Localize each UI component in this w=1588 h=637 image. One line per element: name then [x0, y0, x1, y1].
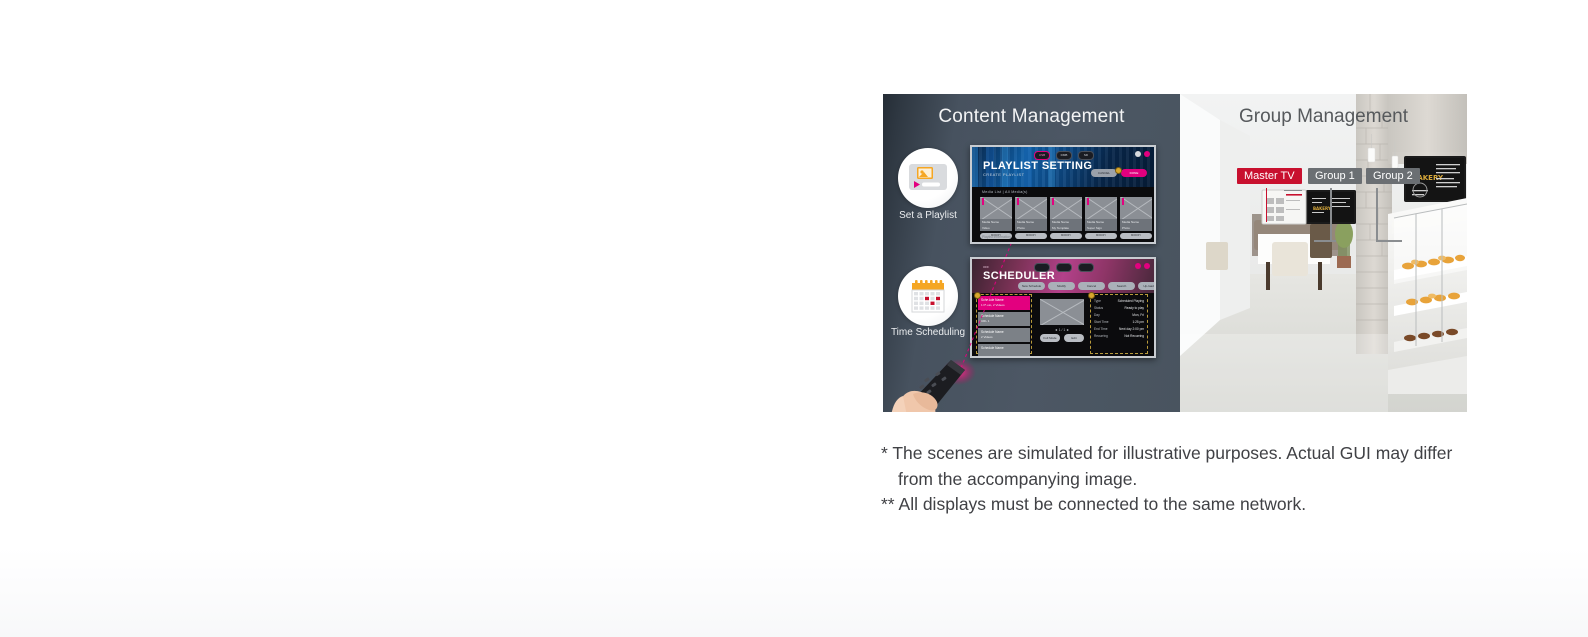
media-modify-button[interactable]: MODIFY: [1085, 233, 1117, 239]
modify-button[interactable]: Modify: [1048, 282, 1075, 290]
schedule-list-item[interactable]: Schedule Name URL 1: [978, 312, 1030, 326]
detail-value: Mon, Fri: [1132, 313, 1144, 317]
playlist-image-icon: [909, 164, 947, 190]
schedule-preview-buttons[interactable]: Full Mode Edit: [1040, 334, 1084, 342]
time-scheduling-label: Time Scheduling: [883, 327, 983, 338]
detail-row: Recurring Not Recurring: [1094, 334, 1144, 338]
cancel-button[interactable]: Cancel: [1078, 282, 1105, 290]
settings-icon[interactable]: [1135, 263, 1141, 269]
detail-value: Next day 2:00 pm: [1119, 327, 1144, 331]
media-source-sd-button[interactable]: SD: [1078, 151, 1094, 160]
detail-value: Ready to play: [1125, 306, 1145, 310]
media-type: Photo: [1120, 225, 1152, 231]
scheduler-top-button-2[interactable]: [1056, 263, 1072, 272]
scheduler-tag: OFF: [983, 265, 989, 269]
footnote-line-1: * The scenes are simulated for illustrat…: [881, 441, 1481, 492]
settings-icon[interactable]: [1135, 151, 1141, 157]
group2-leader-line: [1376, 188, 1378, 240]
schedule-preview: [1040, 299, 1084, 325]
media-modify-button[interactable]: MODIFY: [1050, 233, 1082, 239]
bakery-cafe-scene: BAKERY BAKERY: [1180, 94, 1467, 412]
detail-row: Status Ready to play: [1094, 306, 1144, 310]
media-card[interactable]: Media Name Photo MODIFY: [1015, 197, 1047, 239]
master-tv-leader-line: [1266, 188, 1267, 222]
schedule-list-knob: [974, 292, 981, 299]
group1-leader-line: [1330, 188, 1332, 240]
detail-row: Type Scheduled Playing: [1094, 299, 1144, 303]
group-2-tag[interactable]: Group 2: [1366, 168, 1420, 184]
calendar-icon: [911, 279, 945, 313]
close-icon[interactable]: [1144, 151, 1150, 157]
media-modify-button[interactable]: MODIFY: [1015, 233, 1047, 239]
media-thumbnail: [1085, 197, 1117, 219]
media-source-usb-button[interactable]: USB: [1034, 151, 1050, 160]
schedule-detail-panel: Type Scheduled Playing Status Ready to p…: [1090, 294, 1148, 354]
media-card-list[interactable]: Media Name Video MODIFY Media Name Photo…: [980, 197, 1152, 239]
group2-leader-tick: [1376, 240, 1402, 242]
media-type: Super Sign: [1085, 225, 1117, 231]
schedule-name: Schedule Name: [981, 330, 1027, 334]
scheduler-window[interactable]: OFF SCHEDULER New Schedule Modify Cancel…: [970, 257, 1156, 358]
schedule-detail-knob: [1088, 292, 1095, 299]
scheduler-toolbar[interactable]: New Schedule Modify Cancel Search Up-loa…: [1018, 282, 1156, 290]
detail-row: Day Mon, Fri: [1094, 313, 1144, 317]
schedule-list-item[interactable]: Schedule Name: [978, 344, 1030, 358]
master-tv-tag[interactable]: Master TV: [1237, 168, 1302, 184]
done-button[interactable]: DONE: [1121, 169, 1147, 177]
schedule-pager[interactable]: ◄ 1 / 1 ►: [1040, 328, 1084, 332]
playlist-footer-info: Playlist information: [982, 235, 1010, 239]
time-scheduling-icon-circle: [898, 266, 958, 326]
media-modify-button[interactable]: MODIFY: [1120, 233, 1152, 239]
media-thumbnail: [1015, 197, 1047, 219]
schedule-detail: 1 Photo, 2 Videos: [981, 303, 1027, 307]
media-card[interactable]: Media Name Super Sign MODIFY: [1085, 197, 1117, 239]
footnote-line-2: ** All displays must be connected to the…: [881, 492, 1481, 518]
group-1-tag[interactable]: Group 1: [1308, 168, 1362, 184]
media-thumbnail: [1050, 197, 1082, 219]
full-mode-button[interactable]: Full Mode: [1040, 334, 1060, 342]
scheduler-body: Schedule Name 1 Photo, 2 Videos Schedule…: [972, 293, 1154, 356]
master-tv-leader-tick: [1284, 190, 1302, 191]
new-schedule-button[interactable]: New Schedule: [1018, 282, 1045, 290]
scheduler-top-button-3[interactable]: [1078, 263, 1094, 272]
schedule-name: Schedule Name: [981, 298, 1027, 302]
detail-row: End Time Next day 2:00 pm: [1094, 327, 1144, 331]
media-source-dmb-button[interactable]: DMB: [1056, 151, 1072, 160]
bottom-gradient: [0, 547, 1588, 637]
detail-value: Scheduled Playing: [1118, 299, 1144, 303]
playlist-window-subtitle: CREATE PLAYLIST: [983, 172, 1024, 177]
svg-text:BAKERY: BAKERY: [1313, 206, 1331, 211]
set-a-playlist-icon-circle: [898, 148, 958, 208]
media-card[interactable]: Media Name My Template MODIFY: [1050, 197, 1082, 239]
detail-key: Status: [1094, 306, 1103, 310]
search-button[interactable]: Search: [1108, 282, 1135, 290]
schedule-detail: 2 Videos: [981, 335, 1027, 339]
schedule-detail: URL 1: [981, 319, 1027, 323]
media-list-tabs[interactable]: Media List | All Media(s): [982, 190, 1028, 194]
media-thumbnail: [980, 197, 1012, 219]
detail-key: End Time: [1094, 327, 1107, 331]
detail-value: 1:25 pm: [1132, 320, 1144, 324]
detail-key: Recurring: [1094, 334, 1108, 338]
detail-key: Type: [1094, 299, 1101, 303]
schedule-name: Schedule Name: [981, 314, 1027, 318]
scheduler-window-controls[interactable]: [1135, 263, 1150, 269]
promo-image: Content Management Set a Playlist: [883, 94, 1467, 412]
content-management-panel: Content Management Set a Playlist: [883, 94, 1180, 412]
playlist-setting-window[interactable]: USB DMB SD CREATE PLAYLIST PLAYLIST SETT…: [970, 145, 1156, 244]
upload-info-button[interactable]: Up-load Info: [1138, 282, 1156, 290]
edit-button[interactable]: Edit: [1064, 334, 1084, 342]
close-icon[interactable]: [1144, 263, 1150, 269]
group-management-title: Group Management: [1180, 106, 1467, 128]
media-type: Photo: [1015, 225, 1047, 231]
cancel-button[interactable]: CANCEL: [1091, 169, 1117, 177]
schedule-list-item[interactable]: Schedule Name 1 Photo, 2 Videos: [978, 296, 1030, 310]
playlist-window-title: PLAYLIST SETTING: [983, 160, 1092, 172]
media-type: Video: [980, 225, 1012, 231]
scheduler-top-button-1[interactable]: [1034, 263, 1050, 272]
playlist-window-controls[interactable]: [1135, 151, 1150, 157]
detail-key: Start Time: [1094, 320, 1109, 324]
set-a-playlist-label: Set a Playlist: [883, 210, 983, 221]
media-type: My Template: [1050, 225, 1082, 231]
schedule-name: Schedule Name: [981, 346, 1027, 350]
content-management-title: Content Management: [883, 106, 1180, 128]
detail-value: Not Recurring: [1124, 334, 1144, 338]
group-management-panel: BAKERY BAKERY: [1180, 94, 1467, 412]
media-thumbnail: [1120, 197, 1152, 219]
detail-row: Start Time 1:25 pm: [1094, 320, 1144, 324]
hand-holding-remote: [891, 354, 977, 412]
pointer-focus-knob: [1115, 167, 1122, 174]
media-card[interactable]: Media Name Photo MODIFY: [1120, 197, 1152, 239]
footnotes: * The scenes are simulated for illustrat…: [881, 441, 1481, 518]
schedule-list-item[interactable]: Schedule Name 2 Videos: [978, 328, 1030, 342]
schedule-list[interactable]: Schedule Name 1 Photo, 2 Videos Schedule…: [978, 296, 1030, 358]
detail-key: Day: [1094, 313, 1100, 317]
media-card[interactable]: Media Name Video MODIFY: [980, 197, 1012, 239]
group1-leader-tick: [1314, 240, 1336, 242]
